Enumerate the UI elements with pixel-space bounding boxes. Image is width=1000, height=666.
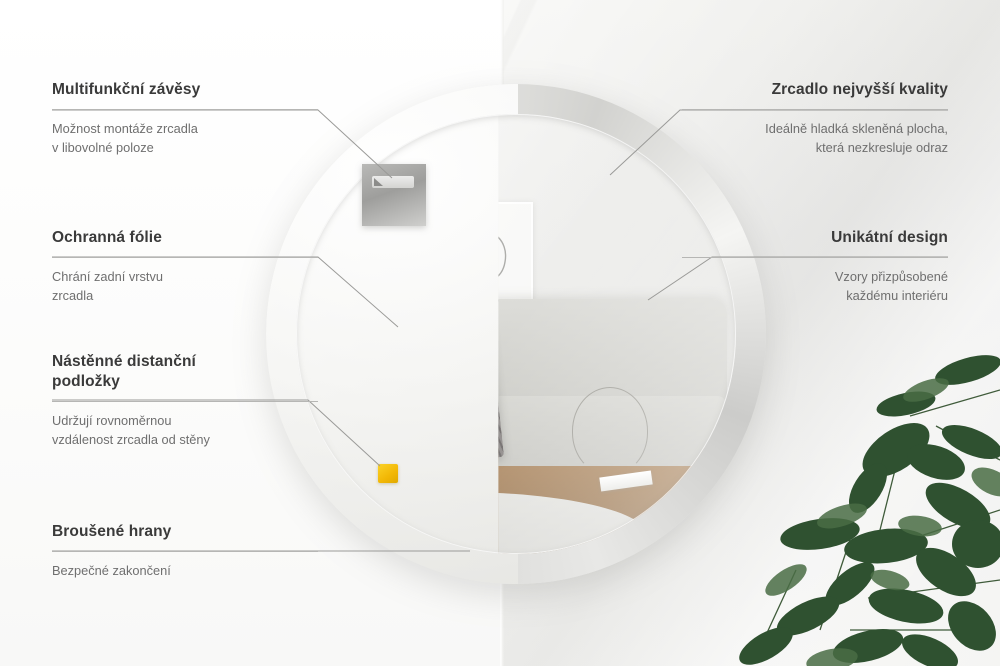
callout-body: Chrání zadní vrstvuzrcadla	[52, 268, 318, 306]
callout-rule	[682, 257, 948, 258]
callout-ochranna-folie: Ochranná fólie Chrání zadní vrstvuzrcadl…	[52, 228, 318, 306]
callout-rule	[52, 109, 318, 110]
callout-title: Zrcadlo nejvyšší kvality	[682, 80, 948, 100]
callout-unikatni-design: Unikátní design Vzory přizpůsobenékaždém…	[682, 228, 948, 306]
callout-body: Vzory přizpůsobenékaždému interiéru	[682, 268, 948, 306]
callout-title: Nástěnné distančnípodložky	[52, 352, 318, 392]
callout-title: Unikátní design	[682, 228, 948, 248]
wall-distance-spacer	[378, 464, 398, 483]
hanger-bracket-plate	[362, 164, 426, 226]
callout-title: Multifunkční závěsy	[52, 80, 318, 100]
callout-body: Bezpečné zakončení	[52, 562, 318, 581]
callout-nastenne-distancni-podlozky: Nástěnné distančnípodložky Udržují rovno…	[52, 352, 318, 450]
hanger-keyhole-slot	[372, 176, 414, 188]
callout-zrcadlo-nejvyssi-kvality: Zrcadlo nejvyšší kvality Ideálně hladká …	[682, 80, 948, 158]
callout-multifunkcni-zavesy: Multifunkční závěsy Možnost montáže zrca…	[52, 80, 318, 158]
callout-brousene-hrany: Broušené hrany Bezpečné zakončení	[52, 522, 318, 581]
callout-body: Možnost montáže zrcadlav libovolné poloz…	[52, 120, 318, 158]
callout-title: Ochranná fólie	[52, 228, 318, 248]
callout-rule	[682, 109, 948, 110]
infographic-canvas: Multifunkční závěsy Možnost montáže zrca…	[0, 0, 1000, 666]
callout-body: Udržují rovnoměrnouvzdálenost zrcadla od…	[52, 412, 318, 450]
callout-title: Broušené hrany	[52, 522, 318, 542]
green-leaves-branch	[700, 330, 1000, 666]
callout-rule	[52, 257, 318, 258]
round-mirror	[266, 84, 766, 584]
reflected-arc-floor-lamp	[572, 387, 648, 475]
callout-rule	[52, 551, 318, 552]
callout-body: Ideálně hladká skleněná plocha,která nez…	[682, 120, 948, 158]
callout-rule	[52, 401, 318, 402]
